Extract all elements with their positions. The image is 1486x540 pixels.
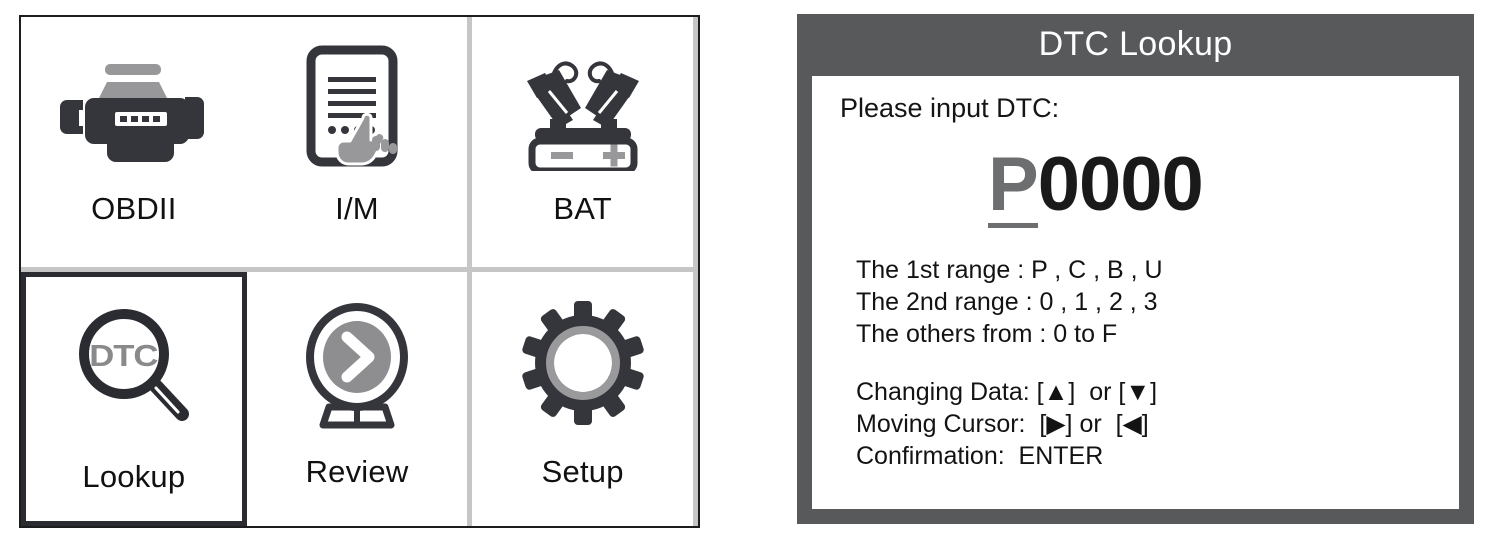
key-line-changing-data: Changing Data: [▲] or [▼]: [856, 376, 1459, 408]
menu-item-label: Review: [306, 456, 409, 487]
svg-text:DTC: DTC: [89, 337, 157, 372]
menu-item-lookup[interactable]: DTC Lookup: [21, 272, 247, 527]
key-instructions: Changing Data: [▲] or [▼] Moving Cursor:…: [856, 376, 1459, 472]
battery-clamps-icon: [472, 17, 693, 187]
menu-item-bat[interactable]: BAT: [472, 17, 698, 272]
key-line-moving-cursor: Moving Cursor: [▶] or [◀]: [856, 408, 1459, 440]
prompt-label: Please input DTC:: [840, 92, 1459, 124]
dtc-magnifier-icon: DTC: [26, 277, 242, 447]
menu-item-im[interactable]: I/M: [247, 17, 473, 272]
menu-item-label: I/M: [335, 193, 379, 224]
main-menu-grid: OBDII: [19, 15, 700, 528]
hint-line-2: The 2nd range : 0 , 1 , 2 , 3: [856, 286, 1459, 318]
tablet-hand-icon: [247, 17, 468, 187]
gear-icon: [472, 272, 693, 442]
hint-line-3: The others from : 0 to F: [856, 318, 1459, 350]
menu-item-setup[interactable]: Setup: [472, 272, 698, 527]
key-line-confirmation: Confirmation: ENTER: [856, 440, 1459, 472]
dtc-code-cursor-char[interactable]: P: [988, 149, 1038, 228]
menu-item-label: OBDII: [91, 193, 176, 224]
dtc-code-remaining-chars[interactable]: 0000: [1038, 149, 1203, 228]
range-hints: The 1st range : P , C , B , U The 2nd ra…: [856, 254, 1459, 350]
engine-icon: [21, 17, 247, 187]
dtc-lookup-panel: DTC Lookup Please input DTC: P 0000 The …: [797, 14, 1474, 524]
menu-item-label: BAT: [553, 193, 612, 224]
playback-disc-icon: [247, 272, 468, 442]
menu-item-label: Setup: [542, 456, 624, 487]
menu-item-obdii[interactable]: OBDII: [21, 17, 247, 272]
menu-item-review[interactable]: Review: [247, 272, 473, 527]
hint-line-1: The 1st range : P , C , B , U: [856, 254, 1459, 286]
menu-item-label: Lookup: [82, 461, 185, 492]
dtc-code-input[interactable]: P 0000: [988, 146, 1459, 228]
panel-title: DTC Lookup: [797, 14, 1474, 74]
dtc-screen: Please input DTC: P 0000 The 1st range :…: [812, 76, 1459, 509]
